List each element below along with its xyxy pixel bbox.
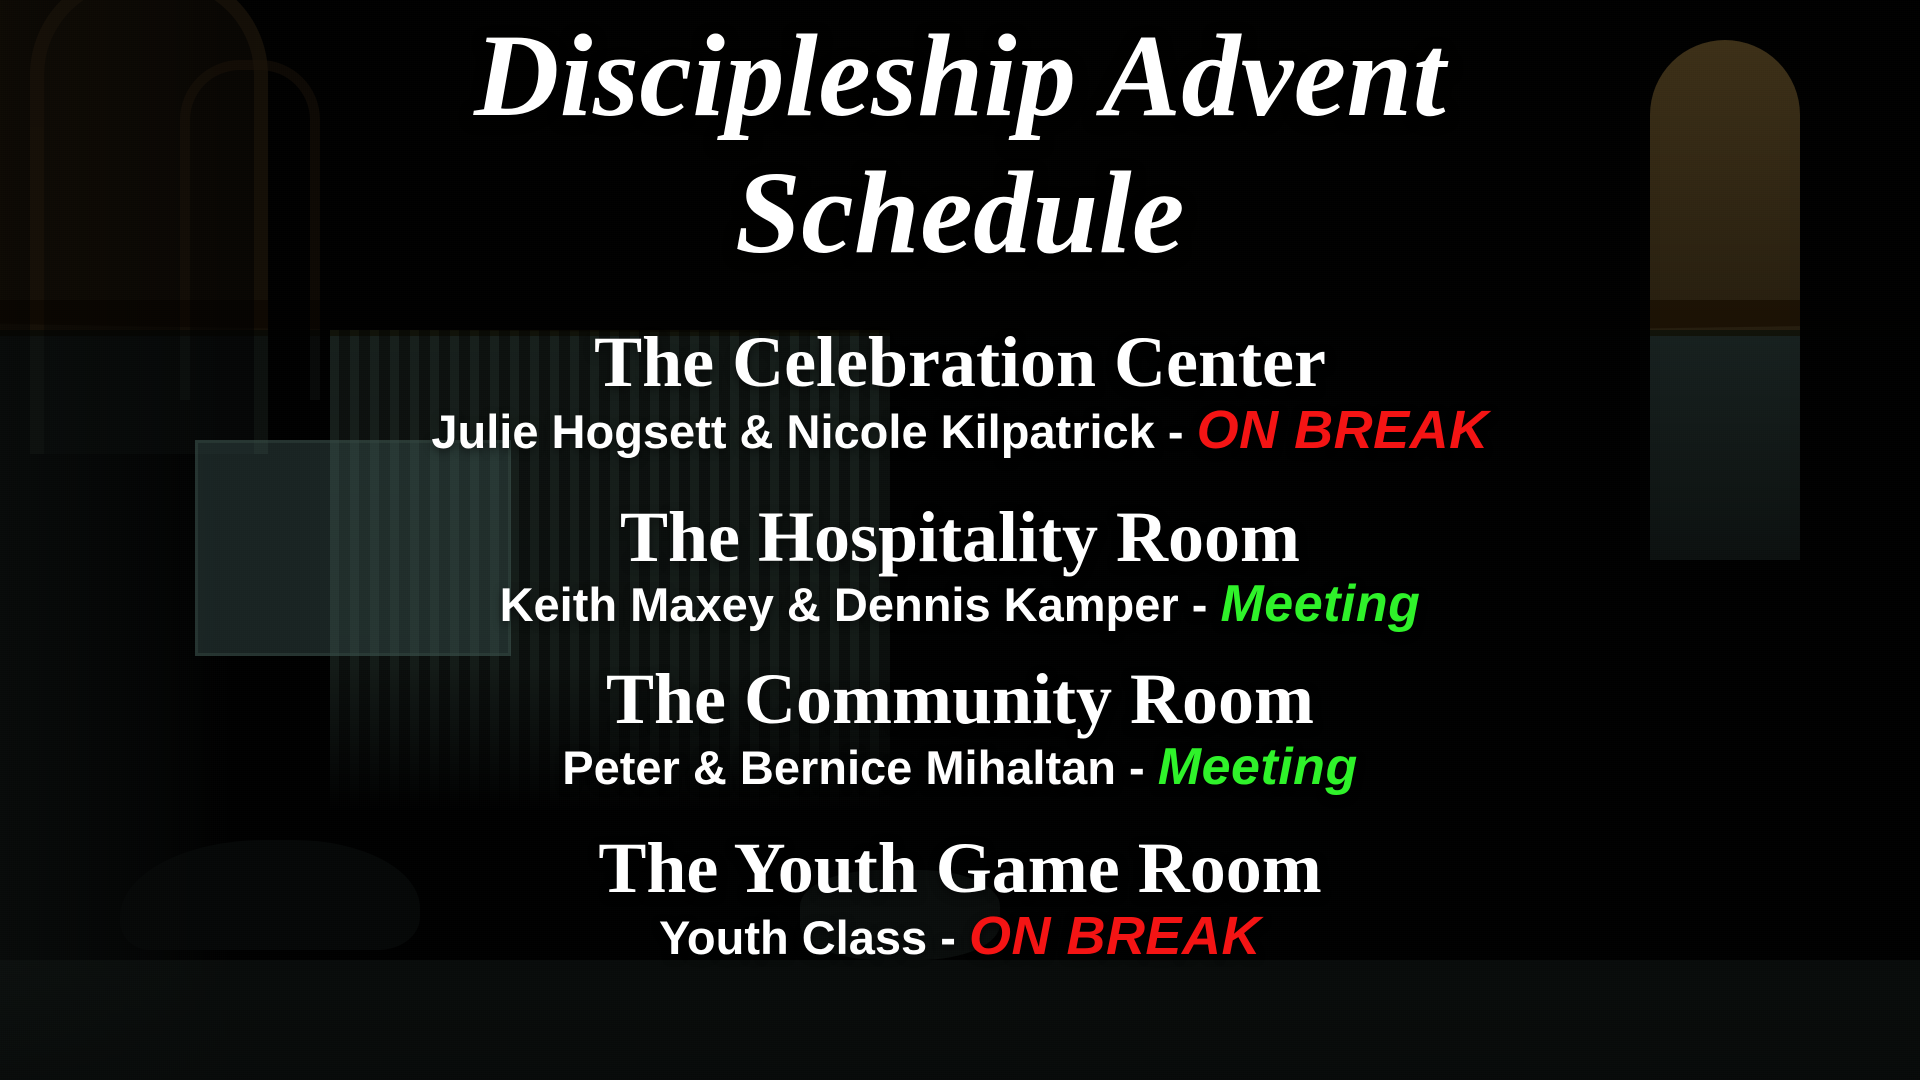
room-status-badge: ON BREAK xyxy=(969,906,1261,966)
room-name: The Youth Game Room xyxy=(0,830,1920,906)
room-leaders-line: Keith Maxey & Dennis Kamper - Meeting xyxy=(0,575,1920,633)
room-entry-youth-game-room: The Youth Game Room Youth Class - ON BRE… xyxy=(0,830,1920,967)
room-leaders: Peter & Bernice Mihaltan - xyxy=(562,741,1158,794)
room-entry-hospitality-room: The Hospitality Room Keith Maxey & Denni… xyxy=(0,499,1920,634)
room-name: The Hospitality Room xyxy=(0,499,1920,575)
room-leaders-line: Youth Class - ON BREAK xyxy=(0,906,1920,966)
room-status-badge: Meeting xyxy=(1158,738,1358,796)
room-leaders: Youth Class - xyxy=(659,911,969,964)
advent-schedule-slide: Discipleship Advent Schedule The Celebra… xyxy=(0,0,1920,1080)
room-leaders: Julie Hogsett & Nicole Kilpatrick - xyxy=(431,405,1196,458)
room-entry-celebration-center: The Celebration Center Julie Hogsett & N… xyxy=(0,324,1920,461)
slide-title-line-1: Discipleship Advent xyxy=(0,8,1920,145)
slide-title: Discipleship Advent Schedule xyxy=(0,8,1920,282)
room-name: The Celebration Center xyxy=(0,324,1920,400)
room-status-badge: ON BREAK xyxy=(1197,400,1489,460)
room-status-badge: Meeting xyxy=(1220,575,1420,633)
room-schedule-list: The Celebration Center Julie Hogsett & N… xyxy=(0,330,1920,975)
room-leaders-line: Peter & Bernice Mihaltan - Meeting xyxy=(0,738,1920,796)
room-entry-community-room: The Community Room Peter & Bernice Mihal… xyxy=(0,661,1920,796)
room-name: The Community Room xyxy=(0,661,1920,737)
slide-content: Discipleship Advent Schedule The Celebra… xyxy=(0,0,1920,1080)
room-leaders-line: Julie Hogsett & Nicole Kilpatrick - ON B… xyxy=(0,400,1920,460)
slide-title-line-2: Schedule xyxy=(0,145,1920,282)
room-leaders: Keith Maxey & Dennis Kamper - xyxy=(500,578,1221,631)
